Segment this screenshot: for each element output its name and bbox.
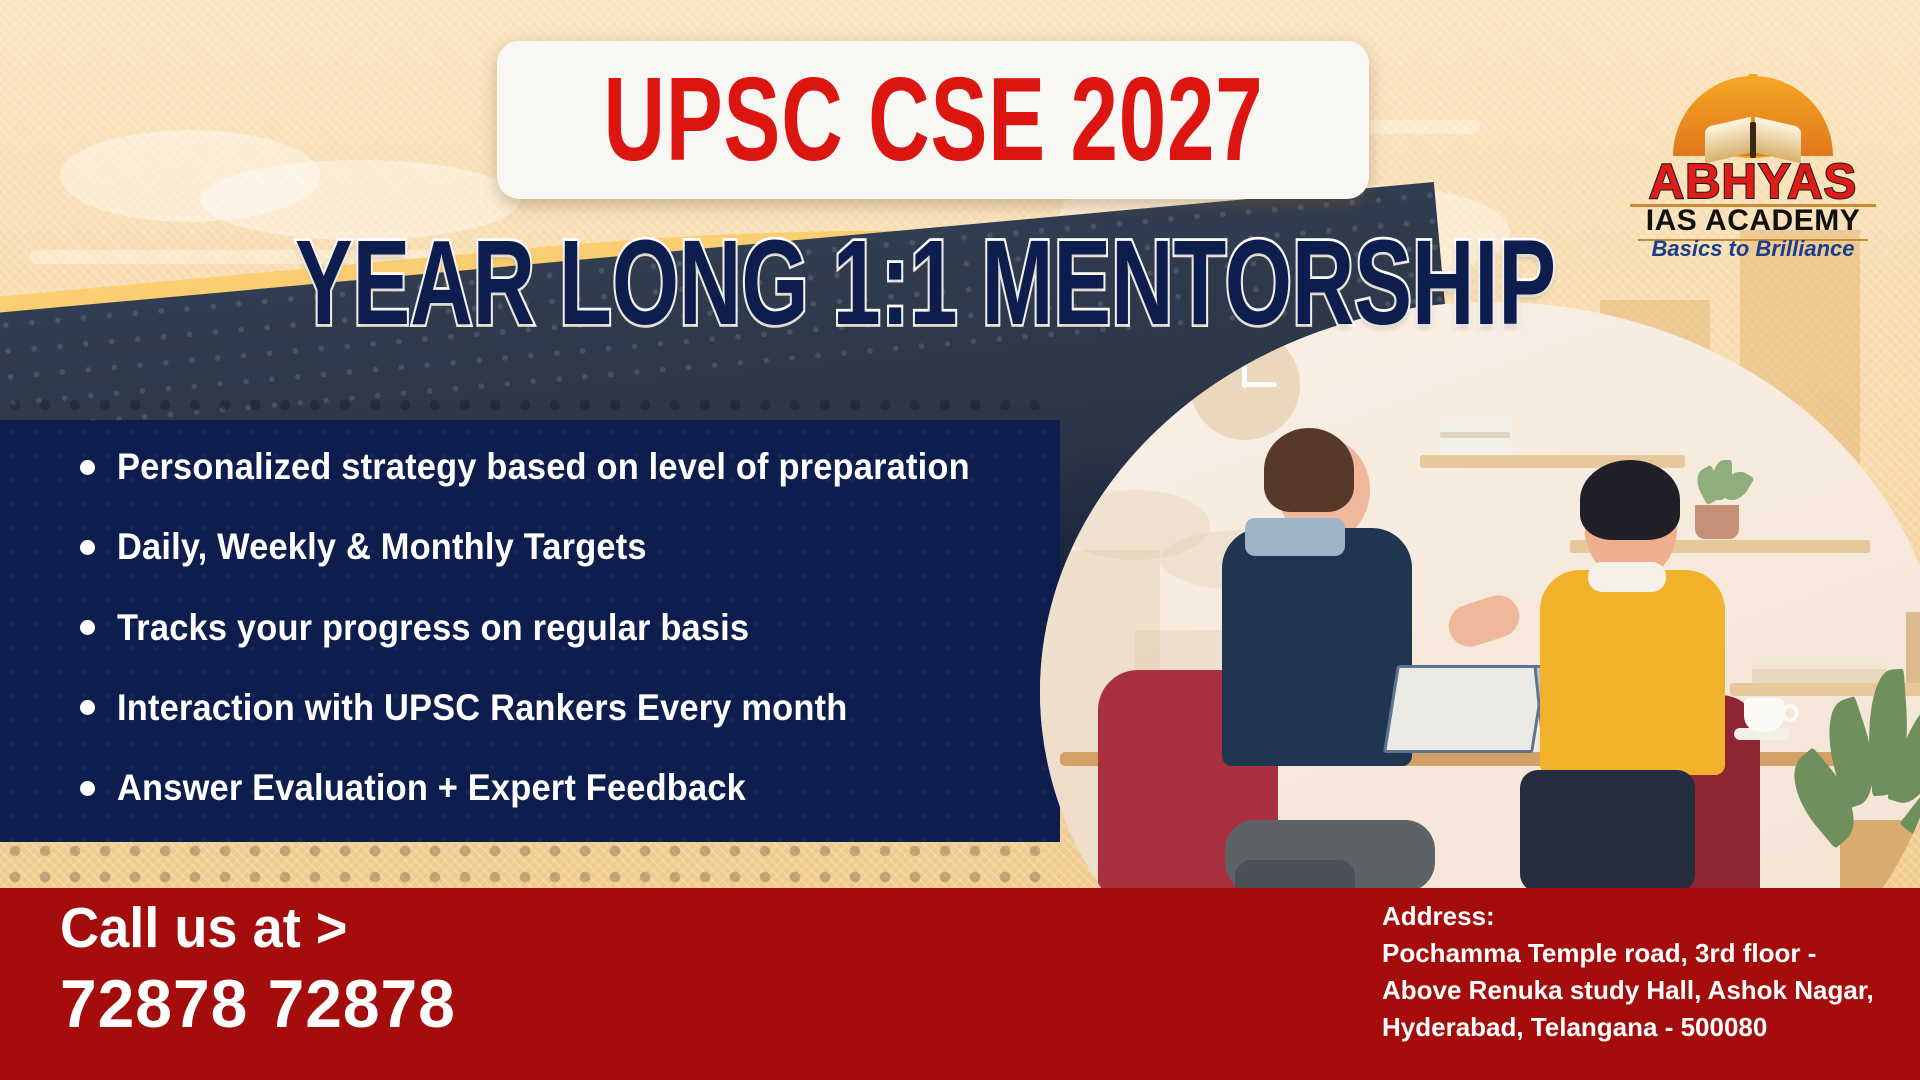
promotional-banner: Personalized strategy based on level of …	[0, 0, 1920, 1080]
call-label: Call us at >	[60, 895, 347, 961]
bullet-dot-icon	[80, 781, 95, 796]
list-item: Tracks your progress on regular basis	[60, 607, 1060, 649]
address-line: Pochamma Temple road, 3rd floor -	[1382, 935, 1912, 972]
feature-text: Interaction with UPSC Rankers Every mont…	[117, 687, 847, 729]
coffee-cup-icon	[1744, 698, 1784, 732]
feature-text: Daily, Weekly & Monthly Targets	[117, 526, 647, 568]
bullet-dot-icon	[80, 460, 95, 475]
person-torso-right	[1540, 570, 1725, 775]
abhyas-logo: ABHYAS IAS ACADEMY Basics to Brilliance	[1608, 28, 1898, 246]
list-item: Interaction with UPSC Rankers Every mont…	[60, 687, 1060, 729]
feature-text: Personalized strategy based on level of …	[117, 446, 970, 488]
cup-handle	[1781, 704, 1799, 722]
bullet-dot-icon	[80, 700, 95, 715]
feature-text: Tracks your progress on regular basis	[117, 607, 749, 649]
page-title: UPSC CSE 2027	[603, 52, 1263, 188]
logo-name: ABHYAS	[1608, 154, 1898, 210]
book	[1752, 669, 1887, 683]
logo-tagline: Basics to Brilliance	[1608, 236, 1898, 262]
list-item: Daily, Weekly & Monthly Targets	[60, 526, 1060, 568]
open-book-icon	[1705, 116, 1801, 158]
laptop-left	[1383, 665, 1547, 753]
bullet-dot-icon	[80, 620, 95, 635]
title-card: UPSC CSE 2027	[497, 41, 1369, 199]
person-collar-left	[1245, 518, 1345, 556]
feature-text: Answer Evaluation + Expert Feedback	[117, 767, 746, 809]
address-block: Address: Pochamma Temple road, 3rd floor…	[1382, 898, 1912, 1046]
features-list: Personalized strategy based on level of …	[60, 432, 1060, 827]
phone-number[interactable]: 72878 72878	[60, 965, 456, 1043]
sun-icon	[1638, 28, 1868, 156]
list-item: Answer Evaluation + Expert Feedback	[60, 767, 1060, 809]
plant-pot	[1695, 505, 1739, 539]
person-collar-right	[1588, 562, 1666, 592]
address-heading: Address:	[1382, 898, 1912, 935]
book	[1906, 612, 1920, 683]
book	[1440, 432, 1510, 438]
person-hair-left	[1264, 428, 1354, 512]
person-legs-right	[1520, 770, 1695, 892]
bullet-dot-icon	[80, 540, 95, 555]
address-line: Hyderabad, Telangana - 500080	[1382, 1009, 1912, 1046]
headline: YEAR LONG 1:1 MENTORSHIP	[295, 212, 1556, 352]
list-item: Personalized strategy based on level of …	[60, 446, 1060, 488]
person-torso-left	[1222, 528, 1412, 766]
person-hair-right	[1580, 460, 1680, 540]
halftone-strip-bottom	[0, 838, 1060, 890]
logo-subtitle: IAS ACADEMY	[1608, 204, 1898, 238]
address-line: Above Renuka study Hall, Ashok Nagar,	[1382, 972, 1912, 1009]
